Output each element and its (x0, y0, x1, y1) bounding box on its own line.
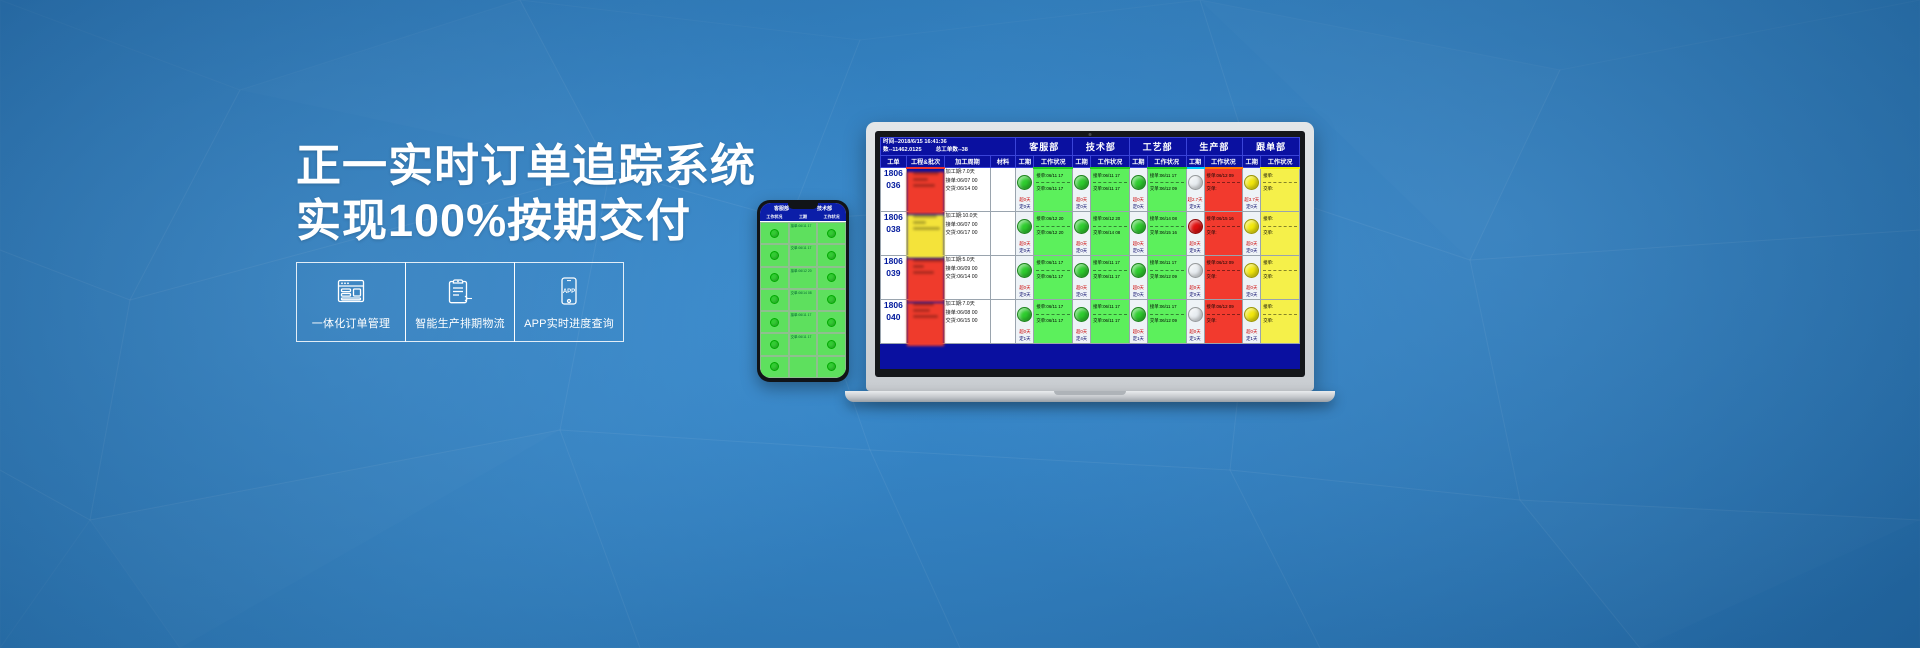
table-row[interactable]: 1806 040 加工期:7.0天 接单:06/08 00 交货:06/15 0… (881, 300, 1300, 344)
project-batch-cell[interactable] (906, 168, 945, 212)
order-tracking-table[interactable]: 时间--2018/6/15 16:41:36 数--11462.0125 总工单… (880, 137, 1300, 344)
material-cell[interactable] (990, 168, 1016, 212)
phone-status-cell[interactable] (760, 267, 789, 289)
phone-screen: 客服部 技术部 工作状况 工期 工作状况 接单:06/11 17 交单:06/1… (760, 203, 846, 378)
work-order-number[interactable]: 1806 039 (881, 256, 907, 300)
phone-col-label: 工作状况 (760, 213, 789, 221)
headline-line-1: 正一实时订单追踪系统 (296, 138, 716, 193)
wo-line: 040 (881, 312, 906, 323)
send-date: 交单:06/11 17 (1093, 186, 1127, 193)
header-time: 时间--2018/6/15 16:41:36 (883, 138, 1013, 146)
status-lamp-icon (1131, 175, 1146, 190)
cycle-line: 交货:06/17 00 (945, 229, 989, 237)
feature-production-scheduling[interactable]: 智能生产排期物流 (405, 262, 515, 342)
status-cell[interactable]: 接单:06/11 17交单:06/11 17 (1091, 168, 1130, 212)
status-lamp-icon (770, 340, 779, 349)
status-lamp-icon (1244, 175, 1259, 190)
receive-date: 接单:06/12 09 (1207, 304, 1241, 311)
feature-label: 一体化订单管理 (312, 315, 390, 331)
cycle-cell[interactable]: 加工期:7.0天 接单:06/08 00 交货:06/15 00 (945, 300, 990, 344)
phone-date-cell[interactable]: 交单:06/11 17 (789, 333, 818, 355)
status-lamp-icon (770, 318, 779, 327)
cycle-cell[interactable]: 加工期:5.0天 接单:06/09 00 交货:06/14 00 (945, 256, 990, 300)
col-duration-tech[interactable]: 工期 (1073, 155, 1091, 168)
cycle-line: 加工期:10.0天 (945, 212, 989, 220)
duration-cell[interactable]: 超0天定0天 (1016, 168, 1034, 212)
status-lamp-icon (1188, 263, 1203, 278)
receive-date: 接单: (1263, 260, 1297, 267)
wo-line: 039 (881, 268, 906, 279)
over-days: 超0天 (1073, 329, 1090, 336)
set-days: 定0天 (1187, 248, 1204, 255)
over-days: 超0天 (1130, 197, 1147, 204)
over-days: 超0天 (1073, 241, 1090, 248)
set-days: 定0天 (1130, 204, 1147, 211)
set-days: 定0天 (1243, 292, 1260, 299)
clipboard-icon (446, 274, 474, 308)
status-cell[interactable]: 接单:06/14 08交单:06/15 16 (1147, 212, 1186, 256)
phone-date-cell[interactable] (789, 356, 818, 378)
status-lamp-icon (1188, 175, 1203, 190)
work-order-number[interactable]: 1806 036 (881, 168, 907, 212)
duration-cell[interactable]: 超3.7天定0天 (1243, 168, 1261, 212)
status-cell[interactable]: 接单:06/12 20交单:06/14 08 (1091, 212, 1130, 256)
phone-status-cell[interactable] (760, 333, 789, 355)
project-swatch (907, 215, 945, 258)
cycle-line: 加工期:7.0天 (945, 300, 989, 308)
status-lamp-icon (1017, 175, 1032, 190)
phone-column-status-a (760, 222, 789, 378)
table-row[interactable]: 1806 036 加工期:7.0天 接单:06/07 00 交货:06/14 0… (881, 168, 1300, 212)
dept-header-technical: 技术部 (1073, 138, 1130, 156)
dept-header-merchandising: 跟单部 (1243, 138, 1300, 156)
feature-order-management[interactable]: 一体化订单管理 (296, 262, 406, 342)
receive-date: 接单:06/14 08 (1150, 216, 1184, 223)
status-lamp-icon (1074, 263, 1089, 278)
cycle-line: 接单:06/07 00 (945, 221, 989, 229)
duration-cell[interactable]: 超0天定0天 (1186, 256, 1204, 300)
status-lamp-icon (827, 362, 836, 371)
duration-cell[interactable]: 超0天定1天 (1186, 300, 1204, 344)
duration-cell[interactable]: 超0天定1天 (1129, 300, 1147, 344)
table-header-columns: 工单 工程&批次 加工周期 材料 工期 工作状况 工期 工作状况 工期 工作状况… (881, 155, 1300, 168)
status-cell[interactable]: 接单:交单: (1261, 212, 1300, 256)
duration-cell[interactable]: 超0天定0天 (1073, 256, 1091, 300)
status-lamp-icon (1017, 307, 1032, 322)
receive-date: 接单:06/11 17 (1150, 304, 1184, 311)
status-lamp-icon (827, 273, 836, 282)
cycle-line: 交货:06/14 00 (945, 273, 989, 281)
status-cell[interactable]: 接单:06/12 20交单:06/12 20 (1034, 212, 1073, 256)
receive-date: 接单: (1263, 304, 1297, 311)
col-material[interactable]: 材料 (990, 155, 1016, 168)
phone-col-label: 工期 (789, 213, 818, 221)
col-duration-cs[interactable]: 工期 (1016, 155, 1034, 168)
project-batch-cell[interactable] (906, 212, 945, 256)
cycle-cell[interactable]: 加工期:7.0天 接单:06/07 00 交货:06/14 00 (945, 168, 990, 212)
receive-date: 接单:06/12 09 (1207, 260, 1241, 267)
duration-cell[interactable]: 超0天定0天 (1016, 256, 1034, 300)
set-days: 定0天 (1243, 248, 1260, 255)
receive-date: 接单:06/11 17 (1036, 260, 1070, 267)
send-date: 交单: (1207, 230, 1241, 237)
send-date: 交单:06/11 17 (1036, 274, 1070, 281)
status-lamp-icon (1131, 307, 1146, 322)
over-days: 超3.7天 (1243, 197, 1260, 204)
set-days: 定0天 (1016, 292, 1033, 299)
project-batch-cell[interactable] (906, 300, 945, 344)
status-cell[interactable]: 接单:06/11 17交单:06/11 17 (1091, 300, 1130, 344)
webcam-icon (1089, 133, 1092, 136)
laptop-mockup: 时间--2018/6/15 16:41:36 数--11462.0125 总工单… (866, 122, 1314, 402)
set-days: 定0天 (1130, 292, 1147, 299)
status-lamp-icon (1131, 219, 1146, 234)
receive-date: 接单:06/11 17 (1150, 173, 1184, 180)
status-lamp-icon (770, 273, 779, 282)
set-days: 定1天 (1130, 336, 1147, 343)
duration-cell[interactable]: 超0天定0天 (1243, 256, 1261, 300)
table-row[interactable]: 1806 038 加工期:10.0天 接单:06/07 00 交货:06/17 … (881, 212, 1300, 256)
set-days: 定0天 (1187, 292, 1204, 299)
over-days: 超0天 (1187, 285, 1204, 292)
status-lamp-icon (827, 295, 836, 304)
header-amount: 数--11462.0125 (883, 146, 922, 154)
set-days: 定1天 (1243, 336, 1260, 343)
feature-label: APP实时进度查询 (524, 315, 614, 331)
status-cell[interactable]: 接单:06/12 09交单: (1204, 168, 1243, 212)
phone-status-cell[interactable] (817, 289, 846, 311)
receive-date: 接单:06/12 20 (1036, 216, 1070, 223)
set-days: 定0天 (1073, 292, 1090, 299)
phone-status-cell[interactable] (817, 356, 846, 378)
status-lamp-icon (1074, 307, 1089, 322)
over-days: 超0天 (1073, 285, 1090, 292)
work-order-number[interactable]: 1806 038 (881, 212, 907, 256)
phone-col-label: 工作状况 (817, 213, 846, 221)
hero-copy: 正一实时订单追踪系统 实现100%按期交付 (296, 138, 716, 248)
feature-app-progress-query[interactable]: APP APP实时进度查询 (514, 262, 624, 342)
headline-line-2: 实现100%按期交付 (296, 193, 716, 248)
col-status-merch[interactable]: 工作状况 (1261, 155, 1300, 168)
laptop-screen: 时间--2018/6/15 16:41:36 数--11462.0125 总工单… (880, 137, 1300, 369)
status-cell[interactable]: 接单:06/11 17交单:06/11 17 (1034, 168, 1073, 212)
receive-date: 接单: (1263, 216, 1297, 223)
status-lamp-icon (770, 251, 779, 260)
col-duration-proc[interactable]: 工期 (1129, 155, 1147, 168)
duration-cell[interactable]: 超0天定1天 (1243, 300, 1261, 344)
send-date: 交单:06/11 17 (1093, 274, 1127, 281)
send-date: 交单:06/11 17 (1093, 318, 1127, 325)
cycle-line: 交货:06/14 00 (945, 185, 989, 193)
duration-cell[interactable]: 超2.7天定0天 (1186, 168, 1204, 212)
duration-cell[interactable]: 超0天定4天 (1073, 300, 1091, 344)
status-lamp-icon (827, 251, 836, 260)
receive-date: 接单:06/11 17 (1150, 260, 1184, 267)
send-date: 交单: (1263, 274, 1297, 281)
phone-notch (788, 203, 818, 209)
status-lamp-icon (1074, 175, 1089, 190)
receive-date: 接单:06/12 09 (1207, 173, 1241, 180)
duration-cell[interactable]: 超0天定0天 (1129, 168, 1147, 212)
cycle-line: 接单:06/09 00 (945, 265, 989, 273)
col-status-prod[interactable]: 工作状况 (1204, 155, 1243, 168)
phone-status-cell[interactable] (760, 222, 789, 244)
cycle-line: 接单:06/07 00 (945, 177, 989, 185)
table-row[interactable]: 1806 039 加工期:5.0天 接单:06/09 00 交货:06/14 0… (881, 256, 1300, 300)
set-days: 定4天 (1073, 336, 1090, 343)
over-days: 超0天 (1016, 197, 1033, 204)
send-date: 交单:06/15 16 (1150, 230, 1184, 237)
over-days: 超0天 (1243, 285, 1260, 292)
phone-date-cell[interactable]: 接单:06/11 17 (789, 311, 818, 333)
laptop-base (845, 391, 1335, 402)
col-project-batch[interactable]: 工程&批次 (906, 155, 945, 168)
send-date: 交单:06/12 09 (1150, 318, 1184, 325)
phone-status-cell[interactable] (817, 267, 846, 289)
project-batch-cell[interactable] (906, 256, 945, 300)
cycle-line: 交货:06/15 00 (945, 317, 989, 325)
receive-date: 接单:06/11 17 (1093, 304, 1127, 311)
wo-line: 036 (881, 180, 906, 191)
send-date: 交单:06/12 09 (1150, 274, 1184, 281)
col-duration-merch[interactable]: 工期 (1243, 155, 1261, 168)
over-days: 超0天 (1016, 241, 1033, 248)
phone-date-cell[interactable]: 接单:06/12 20 (789, 267, 818, 289)
set-days: 定1天 (1187, 336, 1204, 343)
over-days: 超0天 (1187, 241, 1204, 248)
dept-header-customer-service: 客服部 (1016, 138, 1073, 156)
cycle-cell[interactable]: 加工期:10.0天 接单:06/07 00 交货:06/17 00 (945, 212, 990, 256)
wo-line: 038 (881, 224, 906, 235)
over-days: 超0天 (1130, 285, 1147, 292)
material-cell[interactable] (990, 256, 1016, 300)
duration-cell[interactable]: 超0天定0天 (1073, 168, 1091, 212)
set-days: 定0天 (1073, 204, 1090, 211)
wo-line: 1806 (881, 300, 906, 311)
receive-date: 接单:06/11 17 (1036, 304, 1070, 311)
status-lamp-icon (1017, 263, 1032, 278)
smartphone-mockup: 客服部 技术部 工作状况 工期 工作状况 接单:06/11 17 交单:06/1… (757, 200, 849, 382)
receive-date: 接单: (1263, 173, 1297, 180)
status-lamp-icon (770, 362, 779, 371)
send-date: 交单:06/11 17 (1036, 318, 1070, 325)
send-date: 交单: (1263, 318, 1297, 325)
phone-status-cell[interactable] (817, 244, 846, 266)
status-cell[interactable]: 接单:交单: (1261, 300, 1300, 344)
status-lamp-icon (827, 340, 836, 349)
material-cell[interactable] (990, 300, 1016, 344)
status-cell[interactable]: 接单:06/12 09交单: (1204, 300, 1243, 344)
status-lamp-icon (827, 229, 836, 238)
phone-status-cell[interactable] (760, 244, 789, 266)
send-date: 交单:06/11 17 (1036, 186, 1070, 193)
set-days: 定0天 (1243, 204, 1260, 211)
status-lamp-icon (1131, 263, 1146, 278)
set-days: 定1天 (1016, 336, 1033, 343)
phone-date-cell[interactable]: 交单:06/11 17 (789, 244, 818, 266)
col-duration-prod[interactable]: 工期 (1186, 155, 1204, 168)
material-cell[interactable] (990, 212, 1016, 256)
col-work-order[interactable]: 工单 (881, 155, 907, 168)
receive-date: 接单:06/11 17 (1093, 260, 1127, 267)
over-days: 超0天 (1016, 329, 1033, 336)
duration-cell[interactable]: 超0天定0天 (1016, 212, 1034, 256)
status-cell[interactable]: 接单:交单: (1261, 256, 1300, 300)
send-date: 交单:06/12 20 (1036, 230, 1070, 237)
laptop-bezel: 时间--2018/6/15 16:41:36 数--11462.0125 总工单… (875, 131, 1305, 377)
status-cell[interactable]: 接单:06/11 17交单:06/12 09 (1147, 256, 1186, 300)
header-total-orders: 总工单数--38 (936, 146, 968, 154)
receive-date: 接单:06/12 20 (1093, 216, 1127, 223)
status-cell[interactable]: 接单:06/12 09交单: (1204, 256, 1243, 300)
status-cell[interactable]: 接单:06/15 16交单: (1204, 212, 1243, 256)
phone-column-dates: 接单:06/11 17 交单:06/11 17 接单:06/12 20 交单:0… (789, 222, 818, 378)
status-lamp-icon (827, 318, 836, 327)
status-lamp-icon (1074, 219, 1089, 234)
status-cell[interactable]: 接单:06/11 17交单:06/11 17 (1034, 300, 1073, 344)
status-lamp-icon (1244, 219, 1259, 234)
phone-grid[interactable]: 接单:06/11 17 交单:06/11 17 接单:06/12 20 交单:0… (760, 222, 846, 378)
project-swatch (907, 303, 945, 346)
duration-cell[interactable]: 超0天定0天 (1129, 256, 1147, 300)
send-date: 交单: (1207, 186, 1241, 193)
status-lamp-icon (1244, 263, 1259, 278)
send-date: 交单:06/14 08 (1093, 230, 1127, 237)
wo-line: 1806 (881, 212, 906, 223)
wo-line: 1806 (881, 256, 906, 267)
status-cell[interactable]: 接单:交单: (1261, 168, 1300, 212)
phone-status-cell[interactable] (817, 333, 846, 355)
status-cell[interactable]: 接单:06/11 17交单:06/12 09 (1147, 168, 1186, 212)
dashboard-icon (336, 274, 366, 308)
feature-label: 智能生产排期物流 (415, 315, 505, 331)
duration-cell[interactable]: 超0天定0天 (1073, 212, 1091, 256)
dept-header-production: 生产部 (1186, 138, 1243, 156)
set-days: 定0天 (1073, 248, 1090, 255)
table-header-top: 时间--2018/6/15 16:41:36 数--11462.0125 总工单… (881, 138, 1300, 156)
over-days: 超0天 (1016, 285, 1033, 292)
set-days: 定0天 (1130, 248, 1147, 255)
over-days: 超2.7天 (1187, 197, 1204, 204)
over-days: 超0天 (1073, 197, 1090, 204)
cycle-line: 加工期:7.0天 (945, 168, 989, 176)
status-lamp-icon (1188, 219, 1203, 234)
col-status-tech[interactable]: 工作状况 (1091, 155, 1130, 168)
phone-status-cell[interactable] (817, 311, 846, 333)
status-cell[interactable]: 接单:06/11 17交单:06/11 17 (1034, 256, 1073, 300)
status-lamp-icon (770, 229, 779, 238)
phone-column-status-b (817, 222, 846, 378)
phone-status-cell[interactable] (817, 222, 846, 244)
status-lamp-icon (770, 295, 779, 304)
set-days: 定0天 (1187, 204, 1204, 211)
col-cycle[interactable]: 加工周期 (945, 155, 990, 168)
work-order-number[interactable]: 1806 040 (881, 300, 907, 344)
over-days: 超0天 (1130, 329, 1147, 336)
project-swatch (907, 259, 945, 302)
duration-cell[interactable]: 超0天定0天 (1243, 212, 1261, 256)
duration-cell[interactable]: 超0天定0天 (1129, 212, 1147, 256)
header-meta-block: 时间--2018/6/15 16:41:36 数--11462.0125 总工单… (881, 138, 1016, 156)
phone-column-header: 工作状况 工期 工作状况 (760, 213, 846, 222)
over-days: 超0天 (1187, 329, 1204, 336)
receive-date: 接单:06/11 17 (1093, 173, 1127, 180)
status-cell[interactable]: 接单:06/11 17交单:06/12 09 (1147, 300, 1186, 344)
feature-box-group: 一体化订单管理 智能生产排期物流 APP AP (296, 262, 623, 342)
cycle-line: 加工期:5.0天 (945, 256, 989, 264)
dept-header-process: 工艺部 (1129, 138, 1186, 156)
phone-date-cell[interactable]: 接单:06/11 17 (789, 222, 818, 244)
over-days: 超0天 (1130, 241, 1147, 248)
status-lamp-icon (1188, 307, 1203, 322)
duration-cell[interactable]: 超0天定0天 (1186, 212, 1204, 256)
status-lamp-icon (1017, 219, 1032, 234)
status-lamp-icon (1244, 307, 1259, 322)
wo-line: 1806 (881, 168, 906, 179)
over-days: 超0天 (1243, 329, 1260, 336)
send-date: 交单: (1207, 274, 1241, 281)
send-date: 交单: (1207, 318, 1241, 325)
over-days: 超0天 (1243, 241, 1260, 248)
send-date: 交单: (1263, 230, 1297, 237)
set-days: 定0天 (1016, 204, 1033, 211)
svg-text:APP: APP (563, 289, 575, 295)
laptop-lid: 时间--2018/6/15 16:41:36 数--11462.0125 总工单… (866, 122, 1314, 391)
phone-date-cell[interactable]: 交单:06/14 08 (789, 289, 818, 311)
cycle-line: 接单:06/08 00 (945, 309, 989, 317)
project-swatch (907, 172, 945, 215)
receive-date: 接单:06/11 17 (1036, 173, 1070, 180)
set-days: 定0天 (1016, 248, 1033, 255)
status-cell[interactable]: 接单:06/11 17交单:06/11 17 (1091, 256, 1130, 300)
phone-status-cell[interactable] (760, 311, 789, 333)
mobile-app-icon: APP (558, 274, 580, 308)
col-status-proc[interactable]: 工作状况 (1147, 155, 1186, 168)
receive-date: 接单:06/15 16 (1207, 216, 1241, 223)
send-date: 交单:06/12 09 (1150, 186, 1184, 193)
send-date: 交单: (1263, 186, 1297, 193)
col-status-cs[interactable]: 工作状况 (1034, 155, 1073, 168)
duration-cell[interactable]: 超0天定1天 (1016, 300, 1034, 344)
phone-status-cell[interactable] (760, 289, 789, 311)
phone-status-cell[interactable] (760, 356, 789, 378)
